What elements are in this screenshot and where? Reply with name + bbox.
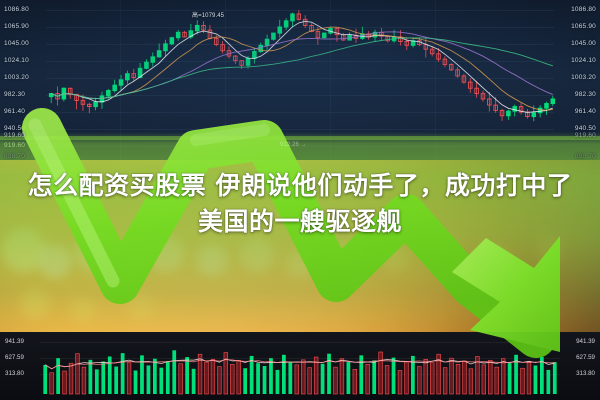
screenshot-root: 1086.80 1065.90 1045.00 1024.10 1003.20 … (0, 0, 600, 400)
volume-bar-series (0, 332, 600, 400)
headline-text: 怎么配资买股票 伊朗说他们动手了，成功打中了 美国的一艘驱逐舰 (0, 168, 600, 239)
volume-axis-left-tick-2: 313.80 (5, 371, 24, 377)
price-axis-left-tick-4: 1003.20 (4, 75, 29, 82)
price-axis-right-tick-5: 982.30 (575, 92, 596, 99)
price-axis-right-tick-2: 1045.00 (571, 41, 596, 48)
headline-line-2: 美国的一艘驱逐舰 (0, 204, 600, 240)
price-axis-right-tick-3: 1024.10 (571, 58, 596, 65)
price-axis-right-tick-8: 919.60 (575, 133, 596, 140)
price-axis-left-tick-6: 961.40 (4, 109, 25, 116)
price-axis-right-tick-0: 1086.80 (571, 7, 596, 14)
price-axis-right-tick-9: 898.70 (575, 154, 596, 161)
volume-axis-right-tick-2: 313.80 (576, 371, 595, 377)
price-axis-left-tick-5: 982.30 (4, 92, 25, 99)
price-axis-right-tick-6: 961.40 (575, 109, 596, 116)
low-price-annotation: 912.26 → (280, 142, 307, 148)
price-axis-left-tick-0: 1086.80 (4, 7, 29, 14)
price-axis-left-tick-2: 1045.00 (4, 41, 29, 48)
price-axis-right-tick-4: 1003.20 (571, 75, 596, 82)
price-axis-right-tick-1: 1065.90 (571, 24, 596, 31)
price-axis-left-tick-8b: 919.60 (4, 133, 25, 140)
price-axis-left-tick-9: 898.70 (4, 154, 25, 161)
volume-chart-panel[interactable]: 941.39 627.59 313.80 941.39 627.59 313.8… (0, 332, 600, 400)
volume-axis-right-tick-0: 941.39 (576, 339, 595, 345)
volume-axis-left-tick-1: 627.59 (5, 355, 24, 361)
candlestick-series (0, 0, 600, 160)
volume-axis-left-tick-0: 941.39 (5, 339, 24, 345)
price-chart-panel[interactable]: 1086.80 1065.90 1045.00 1024.10 1003.20 … (0, 0, 600, 160)
price-axis-left-tick-3: 1024.10 (4, 58, 29, 65)
high-price-annotation: 高=1079.45 (192, 10, 224, 19)
headline-line-1: 怎么配资买股票 伊朗说他们动手了，成功打中了 (28, 171, 573, 200)
volume-axis-right-tick-1: 627.59 (576, 355, 595, 361)
price-axis-left-tick-1: 1065.90 (4, 24, 29, 31)
price-axis-left-tick-8: 919.60 (4, 143, 25, 150)
